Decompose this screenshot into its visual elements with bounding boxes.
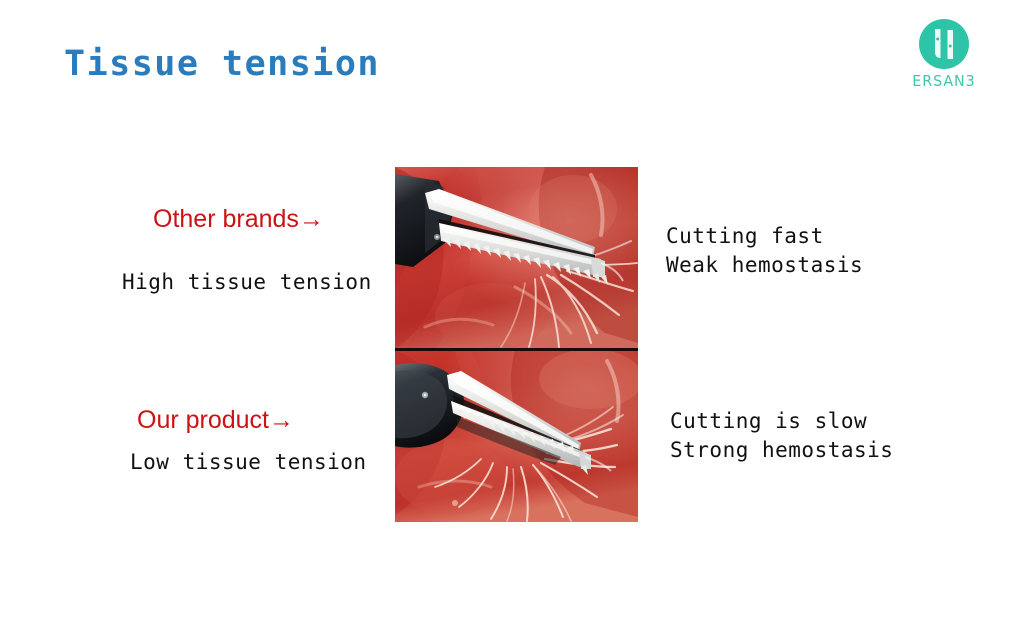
hemostasis-line: Strong hemostasis [670, 436, 893, 465]
page-title: Tissue tension [64, 44, 380, 84]
our-product-label: Our product→ [137, 406, 294, 435]
our-product-result-text: Cutting is slow Strong hemostasis [670, 407, 893, 465]
ersan3-circle-emblem-icon [918, 18, 970, 70]
ultrasonic-scalpel-open-jaw-high-tension-photo [395, 167, 638, 349]
ultrasonic-scalpel-closed-jaw-low-tension-photo [395, 351, 638, 522]
logo-wordmark: ERSAN3 [900, 72, 987, 90]
brand-logo: ERSAN3 [898, 18, 990, 96]
cutting-speed-line: Cutting is slow [670, 407, 893, 436]
low-tissue-tension-label: Low tissue tension [130, 450, 367, 474]
other-brands-label: Other brands→ [153, 205, 324, 234]
other-brands-result-text: Cutting fast Weak hemostasis [666, 222, 863, 280]
cutting-speed-line: Cutting fast [666, 222, 863, 251]
hemostasis-line: Weak hemostasis [666, 251, 863, 280]
high-tissue-tension-label: High tissue tension [122, 270, 372, 294]
comparison-image-panel [395, 167, 638, 522]
